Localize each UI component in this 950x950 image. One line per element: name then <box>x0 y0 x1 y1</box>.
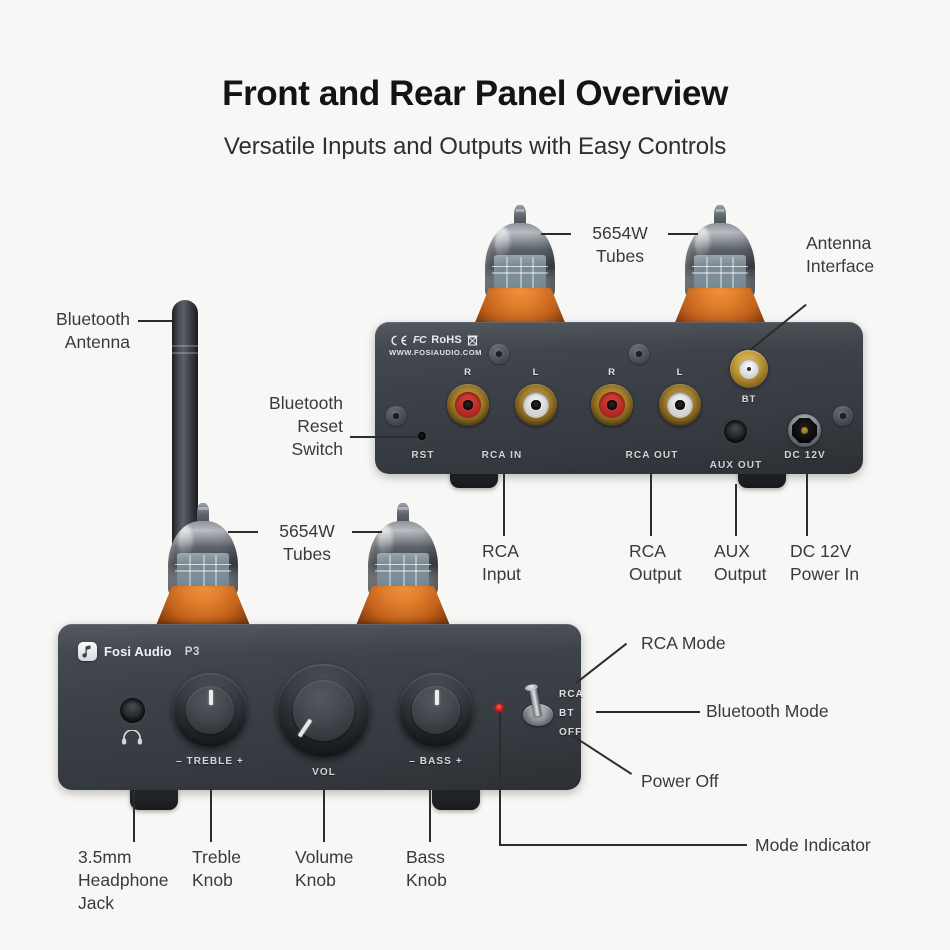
leader-rca-output <box>650 474 652 536</box>
certification-marks: FC RoHS WWW.FOSIAUDIO.COM <box>389 334 482 357</box>
ce-icon <box>389 335 408 346</box>
page-subtitle: Versatile Inputs and Outputs with Easy C… <box>0 133 950 161</box>
callout-headphone-jack: 3.5mm Headphone Jack <box>78 846 196 915</box>
infographic-canvas: Front and Rear Panel Overview Versatile … <box>0 0 950 950</box>
leader-tubes-front-right <box>352 531 382 533</box>
silkscreen-dc-12v: DC 12V <box>771 450 839 461</box>
callout-rca-output: RCA Output <box>629 540 719 586</box>
volume-knob[interactable] <box>277 664 370 757</box>
silkscreen-channel-r: R <box>453 367 483 378</box>
tube-front-right: JAN-5654W <box>355 503 451 628</box>
callout-bluetooth-antenna: Bluetooth Antenna <box>20 308 130 354</box>
bluetooth-antenna-connector[interactable] <box>730 350 768 388</box>
page-title: Front and Rear Panel Overview <box>0 74 950 114</box>
leader-dc-power-in <box>806 474 808 536</box>
leader-volume-knob <box>323 790 325 842</box>
leader-power-off <box>573 735 633 774</box>
silkscreen-channel-r: R <box>597 367 627 378</box>
callout-rca-input: RCA Input <box>482 540 572 586</box>
manufacturer-website: WWW.FOSIAUDIO.COM <box>389 348 482 357</box>
leader-rca-mode <box>576 643 627 684</box>
headphone-icon <box>121 730 143 745</box>
tube-grid <box>375 570 430 572</box>
leader-bluetooth-reset-switch <box>350 436 418 438</box>
leader-tubes-rear-left <box>541 233 571 235</box>
chassis-screw <box>386 406 406 426</box>
silkscreen-mode-bt: BT <box>559 708 595 719</box>
leader-tubes-rear-right <box>668 233 698 235</box>
tube-grid <box>692 266 747 268</box>
mode-indicator-led <box>495 704 503 712</box>
silkscreen-channel-l: L <box>521 367 551 378</box>
knob-indicator <box>435 690 439 705</box>
headphone-jack[interactable] <box>120 698 145 723</box>
tube-rear-right: JAN-5654W <box>672 205 768 330</box>
silkscreen-rca-in: RCA IN <box>465 450 539 461</box>
tube-front-left: JAN-5654W <box>155 503 251 628</box>
silkscreen-aux-out: AUX OUT <box>695 460 777 471</box>
antenna-ring <box>172 352 198 354</box>
callout-bluetooth-mode: Bluetooth Mode <box>706 700 886 723</box>
front-panel-chassis: Fosi Audio P3 – TREBLE + VOL <box>58 624 581 790</box>
leader-bluetooth-mode <box>596 711 700 713</box>
tube-rear-left: JAN-5654W <box>472 205 568 330</box>
treble-knob[interactable] <box>173 673 247 747</box>
model-name: P3 <box>185 646 200 658</box>
rubber-foot <box>130 788 178 810</box>
rear-panel-chassis: FC RoHS WWW.FOSIAUDIO.COM RST R <box>375 322 863 474</box>
callout-bass-knob: Bass Knob <box>406 846 496 892</box>
rubber-foot <box>432 788 480 810</box>
mode-toggle-switch[interactable] <box>523 686 553 726</box>
silkscreen-mode-off: OFF <box>559 727 595 738</box>
leader-aux-output <box>735 484 737 536</box>
antenna-ring <box>172 345 198 347</box>
tube-sheen <box>495 227 510 258</box>
leader-mode-indicator-horizontal <box>499 844 747 846</box>
chassis-screw <box>833 406 853 426</box>
bluetooth-reset-pinhole[interactable] <box>418 432 426 440</box>
rca-in-right-jack[interactable] <box>447 384 489 426</box>
brand-name: Fosi Audio <box>104 644 172 659</box>
tube-sheen <box>178 525 193 556</box>
leader-bluetooth-antenna <box>138 320 172 322</box>
rca-in-left-jack[interactable] <box>515 384 557 426</box>
callout-tubes-front: 5654W Tubes <box>262 520 352 566</box>
tube-sheen <box>378 525 393 556</box>
bass-knob[interactable] <box>399 673 473 747</box>
silkscreen-rst: RST <box>401 450 445 461</box>
knob-indicator <box>209 690 213 705</box>
leader-mode-indicator-vertical <box>499 712 501 845</box>
callout-bluetooth-reset-switch: Bluetooth Reset Switch <box>255 392 343 461</box>
callout-power-off: Power Off <box>641 770 791 793</box>
silkscreen-bt: BT <box>731 394 767 405</box>
aux-out-jack[interactable] <box>724 420 747 443</box>
leader-tubes-front-left <box>228 531 258 533</box>
callout-tubes-rear: 5654W Tubes <box>575 222 665 268</box>
callout-dc-power-in: DC 12V Power In <box>790 540 900 586</box>
silkscreen-rca-out: RCA OUT <box>609 450 695 461</box>
rca-out-right-jack[interactable] <box>591 384 633 426</box>
tube-grid <box>692 272 747 274</box>
fcc-icon: FC <box>413 334 426 346</box>
tube-grid <box>175 570 230 572</box>
rohs-label: RoHS <box>431 334 462 346</box>
weee-bin-icon <box>467 334 478 346</box>
tube-sheen <box>695 227 710 258</box>
callout-treble-knob: Treble Knob <box>192 846 282 892</box>
rca-out-left-jack[interactable] <box>659 384 701 426</box>
silkscreen-channel-l: L <box>665 367 695 378</box>
tube-grid <box>175 564 230 566</box>
callout-mode-indicator: Mode Indicator <box>755 834 945 857</box>
dc-power-jack[interactable] <box>788 414 821 447</box>
silkscreen-vol: VOL <box>294 767 354 778</box>
callout-antenna-interface: Antenna Interface <box>806 232 936 278</box>
chassis-screw <box>629 344 649 364</box>
tube-grid <box>492 266 547 268</box>
knob-indicator <box>298 719 312 738</box>
leader-treble-knob <box>210 790 212 842</box>
leader-bass-knob <box>429 790 431 842</box>
tube-grid <box>375 564 430 566</box>
chassis-screw <box>489 344 509 364</box>
tube-grid <box>492 272 547 274</box>
silkscreen-treble: – TREBLE + <box>170 756 250 767</box>
brand-logo: Fosi Audio P3 <box>78 642 200 661</box>
leader-rca-input <box>503 474 505 536</box>
callout-volume-knob: Volume Knob <box>295 846 395 892</box>
silkscreen-bass: – BASS + <box>396 756 476 767</box>
leader-headphone-jack <box>133 790 135 842</box>
silkscreen-mode-rca: RCA <box>559 689 595 700</box>
fosi-music-note-logo-icon <box>78 642 97 661</box>
callout-rca-mode: RCA Mode <box>641 632 791 655</box>
